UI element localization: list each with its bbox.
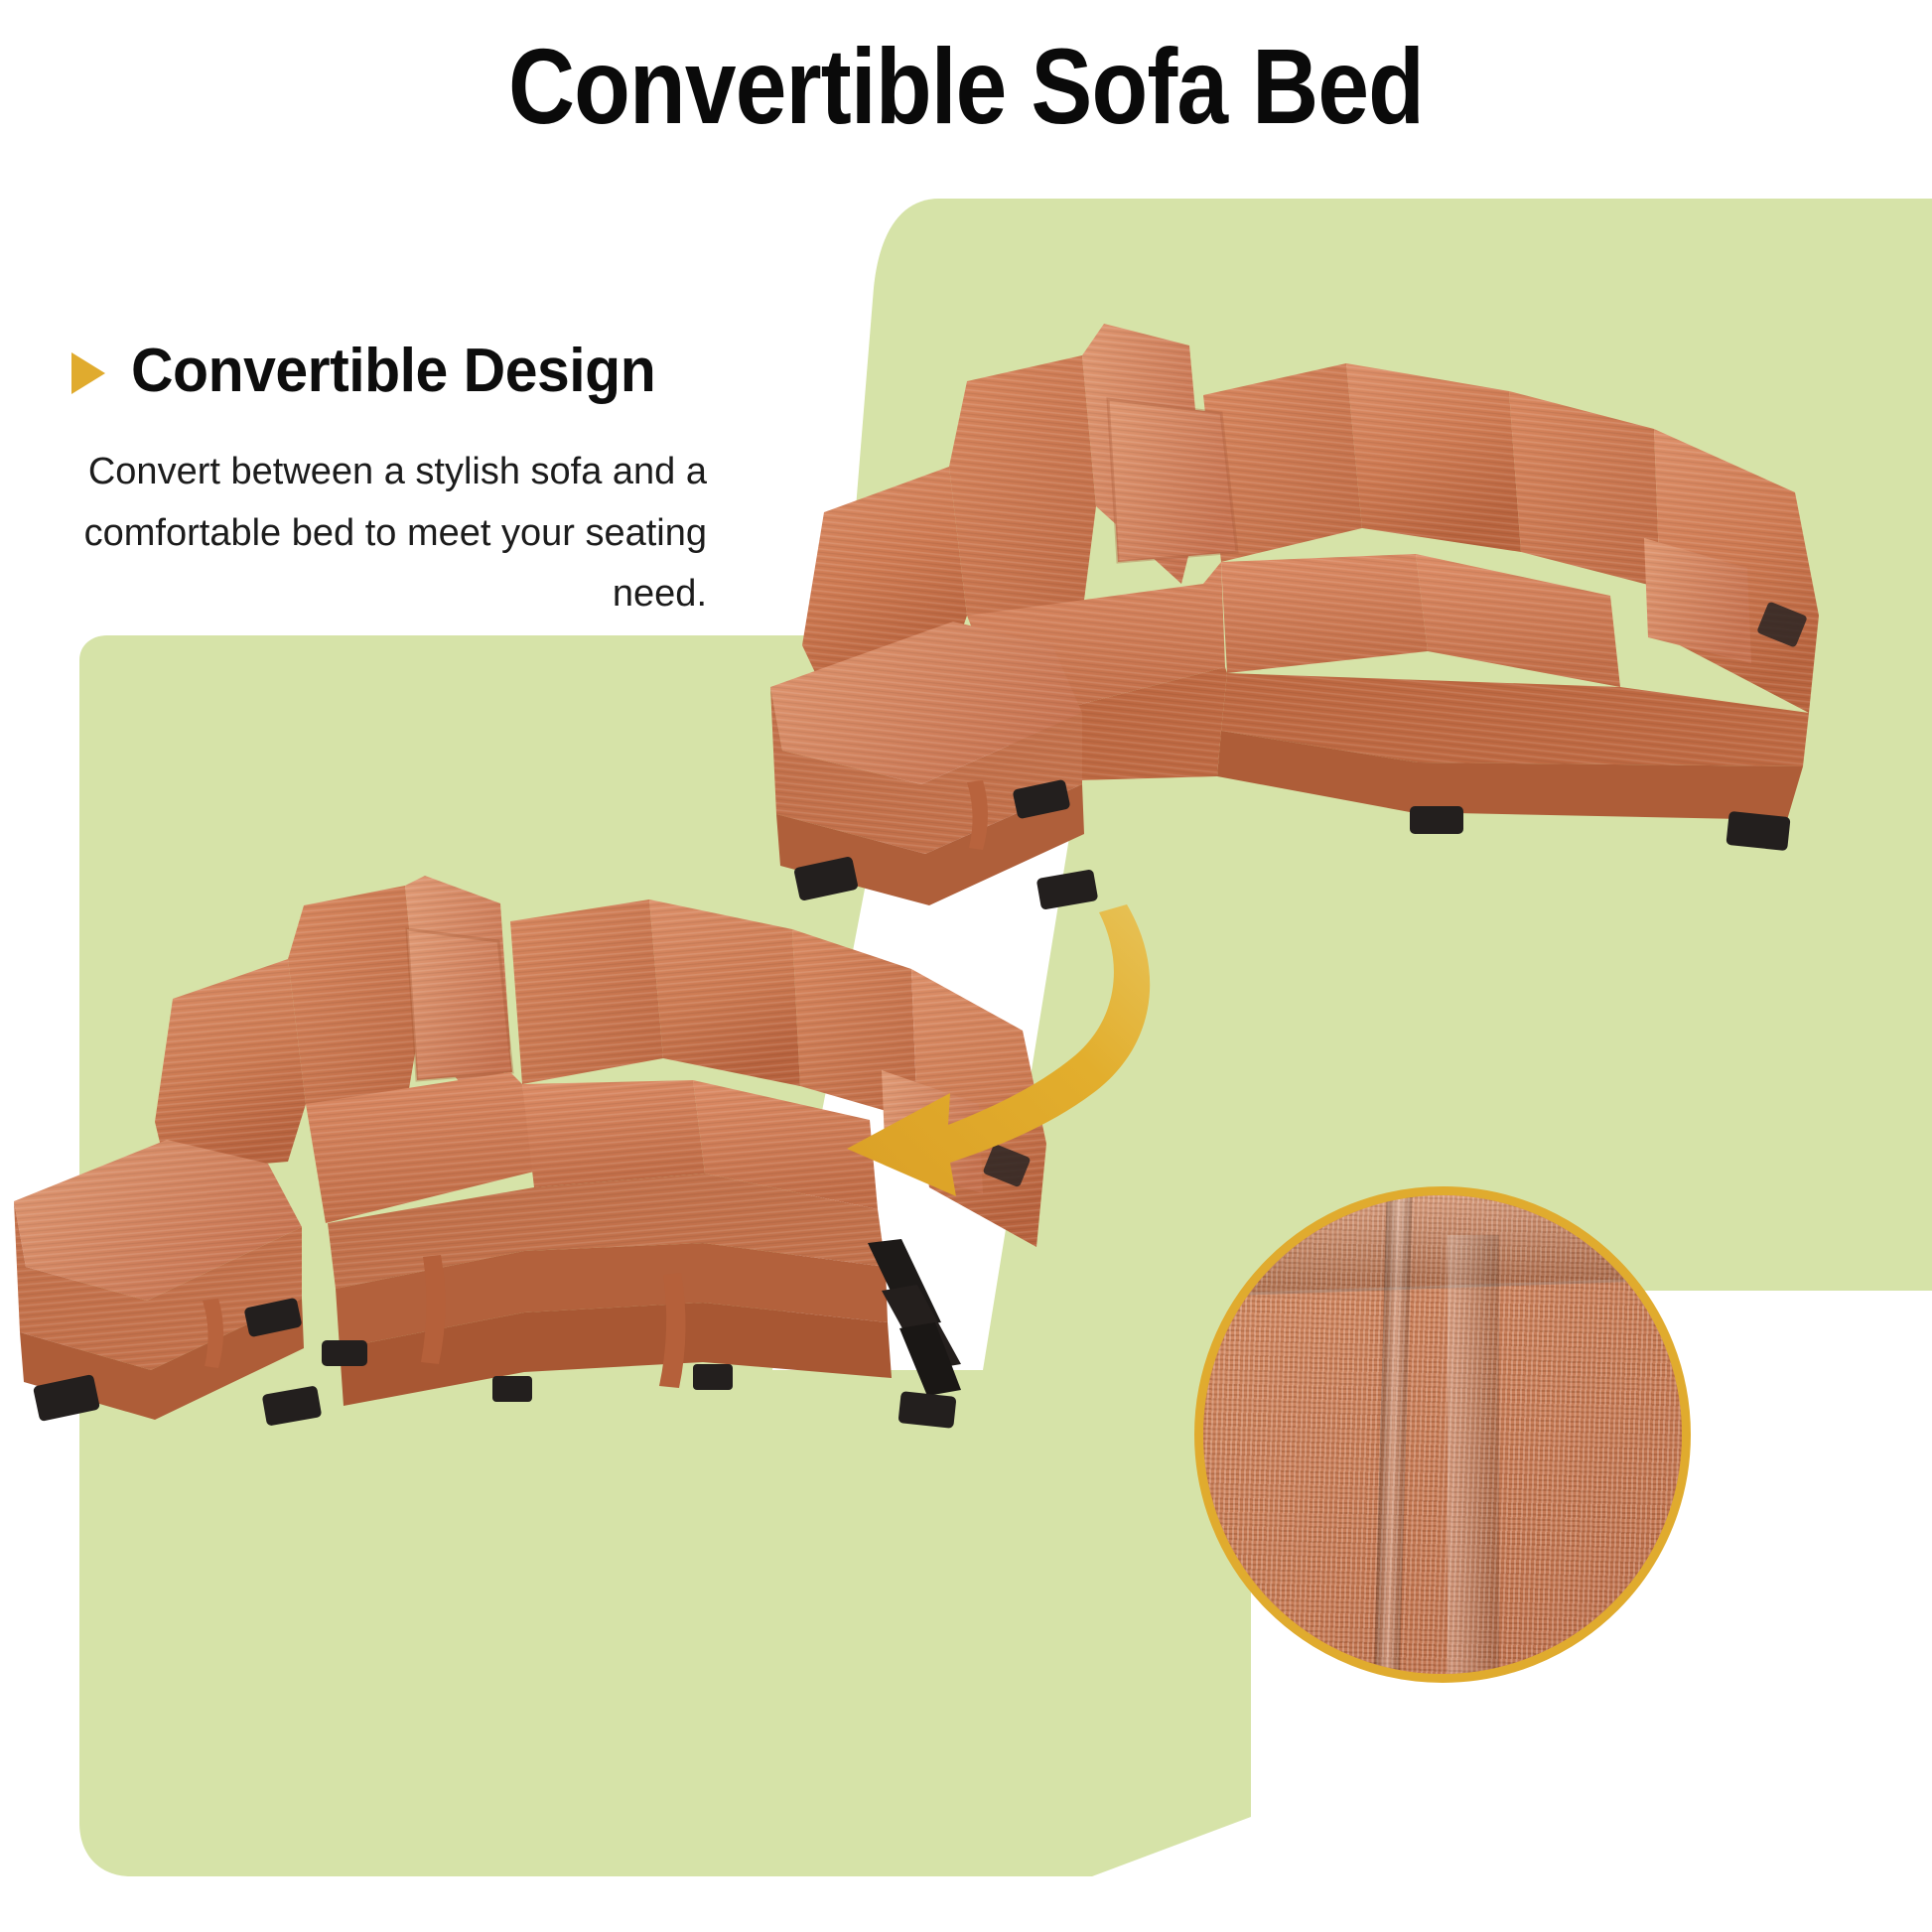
sofa-seating-mode-image [755,318,1926,953]
feature-heading: Convertible Design [131,336,655,406]
feature-block: Convertible Design Convert between a sty… [71,336,796,625]
conversion-arrow [839,898,1196,1226]
page-title: Convertible Sofa Bed [135,28,1797,146]
feature-heading-row: Convertible Design [71,336,796,406]
feature-description: Convert between a stylish sofa and a com… [71,442,729,625]
triangle-right-icon [71,352,105,394]
infographic-canvas: Convertible Sofa Bed Convertible Design … [0,0,1932,1932]
fabric-top-seam [1194,1186,1691,1297]
fabric-detail-circle [1194,1186,1691,1683]
fabric-vertical-seam-right [1448,1235,1499,1683]
